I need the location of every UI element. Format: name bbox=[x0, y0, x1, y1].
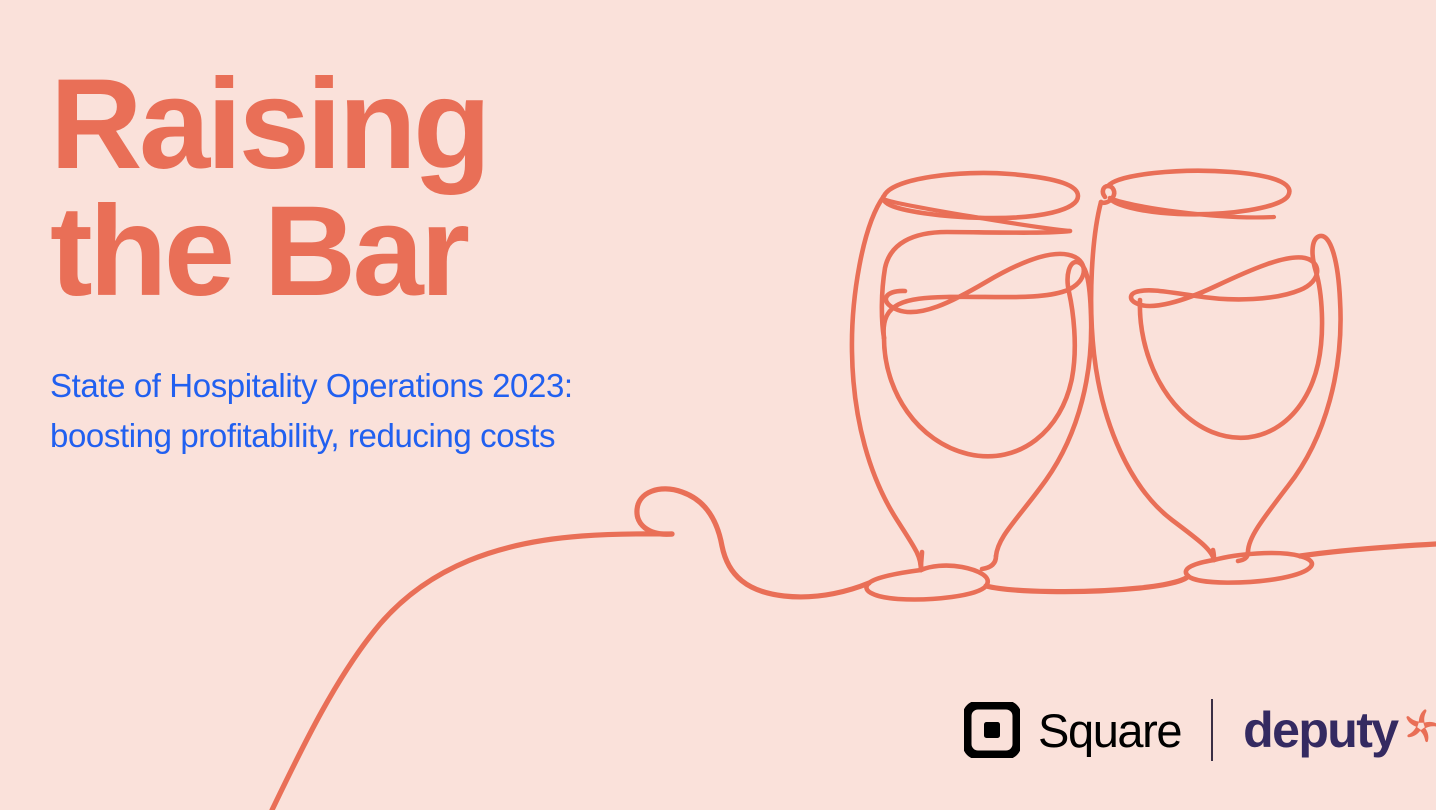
title-text-block: Raising the Bar State of Hospitality Ope… bbox=[50, 62, 710, 460]
square-logo-icon bbox=[964, 702, 1020, 758]
title-slide: Raising the Bar State of Hospitality Ope… bbox=[0, 0, 1436, 810]
square-wordmark: Square bbox=[1038, 707, 1181, 754]
deputy-logo: deputy bbox=[1243, 704, 1436, 756]
page-subtitle: State of Hospitality Operations 2023: bo… bbox=[50, 315, 710, 460]
square-logo: Square bbox=[964, 702, 1181, 758]
deputy-wordmark: deputy bbox=[1243, 705, 1397, 755]
page-title: Raising the Bar bbox=[50, 62, 710, 315]
deputy-pinwheel-icon bbox=[1399, 704, 1436, 748]
logo-lockup: Square deputy bbox=[964, 692, 1436, 768]
logo-divider bbox=[1211, 699, 1213, 761]
